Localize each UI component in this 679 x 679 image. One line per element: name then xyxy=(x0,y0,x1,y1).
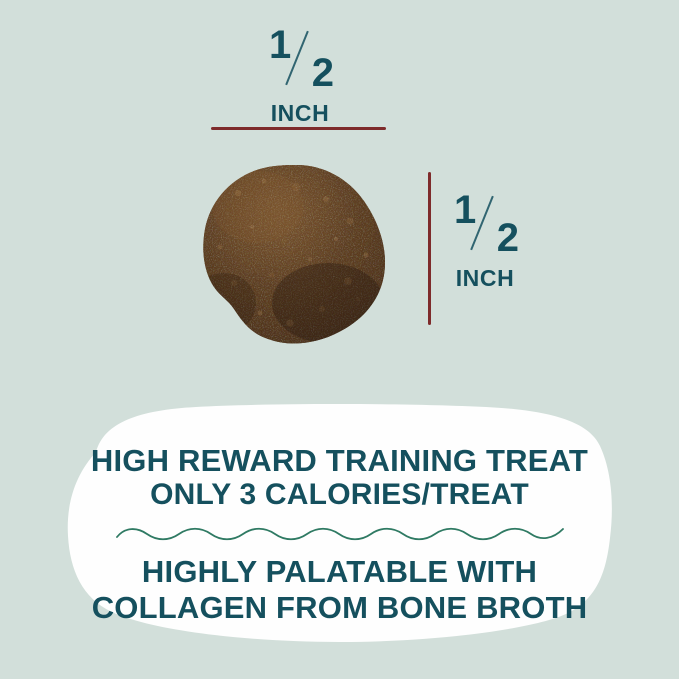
feature-callout-card: HIGH REWARD TRAINING TREAT ONLY 3 CALORI… xyxy=(0,398,679,660)
measurement-label-height: 1 2 INCH xyxy=(448,190,522,292)
subtext-line-2: COLLAGEN FROM BONE BROTH xyxy=(92,590,588,626)
fraction-numerator: 1 xyxy=(269,25,290,65)
fraction-denominator: 2 xyxy=(497,218,518,258)
ruler-line-horizontal xyxy=(211,127,386,130)
dog-treat-photo xyxy=(198,163,392,347)
headline-line-2: ONLY 3 CALORIES/TREAT xyxy=(150,478,529,512)
subtext-line-1: HIGHLY PALATABLE WITH xyxy=(142,554,537,590)
fraction-denominator: 2 xyxy=(312,53,333,93)
fraction-one-half-top: 1 2 xyxy=(263,25,337,93)
fraction-one-half-right: 1 2 xyxy=(448,190,522,258)
unit-label-right: INCH xyxy=(448,265,522,292)
fraction-numerator: 1 xyxy=(454,190,475,230)
headline-line-1: HIGH REWARD TRAINING TREAT xyxy=(91,444,588,478)
infographic-canvas: 1 2 INCH xyxy=(0,0,679,679)
wave-divider-icon xyxy=(115,524,565,544)
measurement-label-width: 1 2 INCH xyxy=(263,25,337,127)
unit-label-top: INCH xyxy=(263,100,337,127)
ruler-line-vertical xyxy=(428,172,431,325)
